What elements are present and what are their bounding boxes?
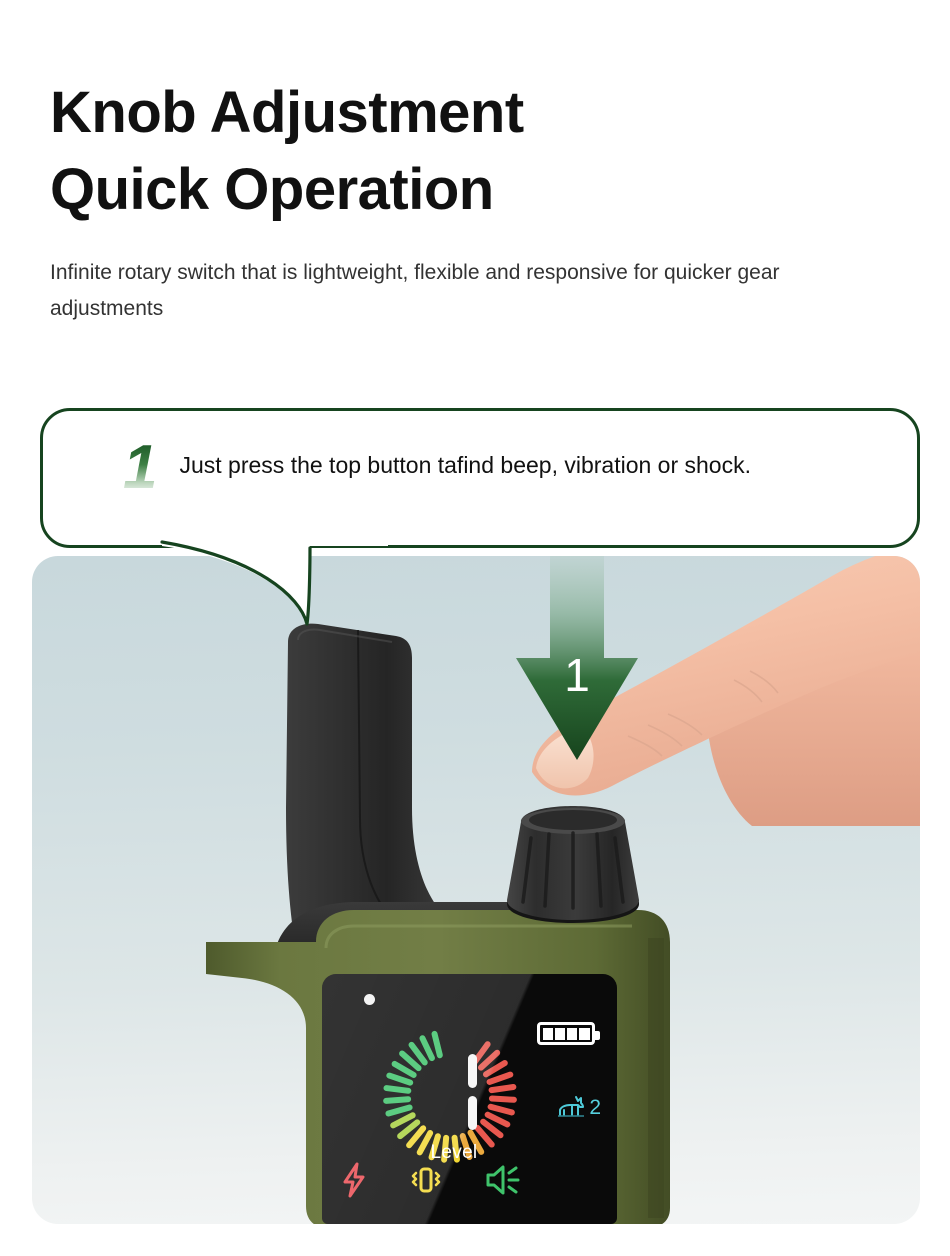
gauge-tick — [386, 1088, 408, 1091]
gauge-tick — [435, 1034, 440, 1055]
indicator-segment — [468, 1096, 477, 1130]
battery-cell — [567, 1028, 577, 1040]
gauge-tick — [488, 1115, 508, 1125]
mode-icons-row — [340, 1162, 600, 1198]
callout-step-number: 1 — [123, 443, 157, 494]
dog-training-collar-remote: Level 2 — [32, 556, 920, 1224]
callout-content: 1 Just press the top button tafind beep,… — [123, 447, 877, 494]
gauge-tick — [386, 1099, 408, 1101]
gauge-tick — [486, 1063, 505, 1074]
device-screen: Level 2 — [322, 974, 617, 1224]
gauge-tick — [393, 1115, 413, 1125]
gauge-tick — [492, 1087, 514, 1090]
gauge-tick — [492, 1099, 514, 1100]
product-photo-panel: Level 2 — [32, 556, 920, 1224]
product-feature-page: Knob Adjustment Quick Operation Infinite… — [0, 0, 950, 1256]
battery-cell — [555, 1028, 565, 1040]
page-title-line-1: Knob Adjustment — [50, 80, 524, 145]
dog-icon — [556, 1094, 586, 1118]
led-indicator-dot — [364, 994, 375, 1005]
dog-channel-indicator: 2 — [556, 1094, 601, 1118]
callout-tail — [160, 528, 390, 638]
callout-bubble-box: 1 Just press the top button tafind beep,… — [40, 408, 920, 548]
arrow-step-number: 1 — [512, 652, 642, 698]
page-title: Knob Adjustment Quick Operation — [50, 74, 850, 228]
callout-step-text: Just press the top button tafind beep, v… — [179, 447, 751, 484]
page-title-line-2: Quick Operation — [50, 151, 850, 228]
vibration-icon[interactable] — [408, 1162, 444, 1198]
shock-bolt-icon[interactable] — [340, 1162, 368, 1198]
gauge-tick — [388, 1107, 409, 1113]
page-subtitle: Infinite rotary switch that is lightweig… — [50, 255, 870, 327]
gauge-tick — [395, 1064, 414, 1075]
level-label: Level — [394, 1142, 514, 1164]
battery-cell — [579, 1028, 589, 1040]
indicator-segment — [468, 1054, 477, 1088]
level-indicator — [468, 1054, 477, 1130]
dog-channel-count: 2 — [589, 1097, 601, 1118]
battery-cell — [543, 1028, 553, 1040]
gauge-tick — [491, 1107, 512, 1113]
gauge-tick — [389, 1076, 410, 1083]
gauge-tick — [422, 1038, 431, 1058]
heading-block: Knob Adjustment Quick Operation — [50, 74, 850, 228]
gauge-tick — [490, 1075, 511, 1082]
battery-icon — [537, 1022, 595, 1045]
beep-speaker-icon[interactable] — [484, 1164, 522, 1196]
